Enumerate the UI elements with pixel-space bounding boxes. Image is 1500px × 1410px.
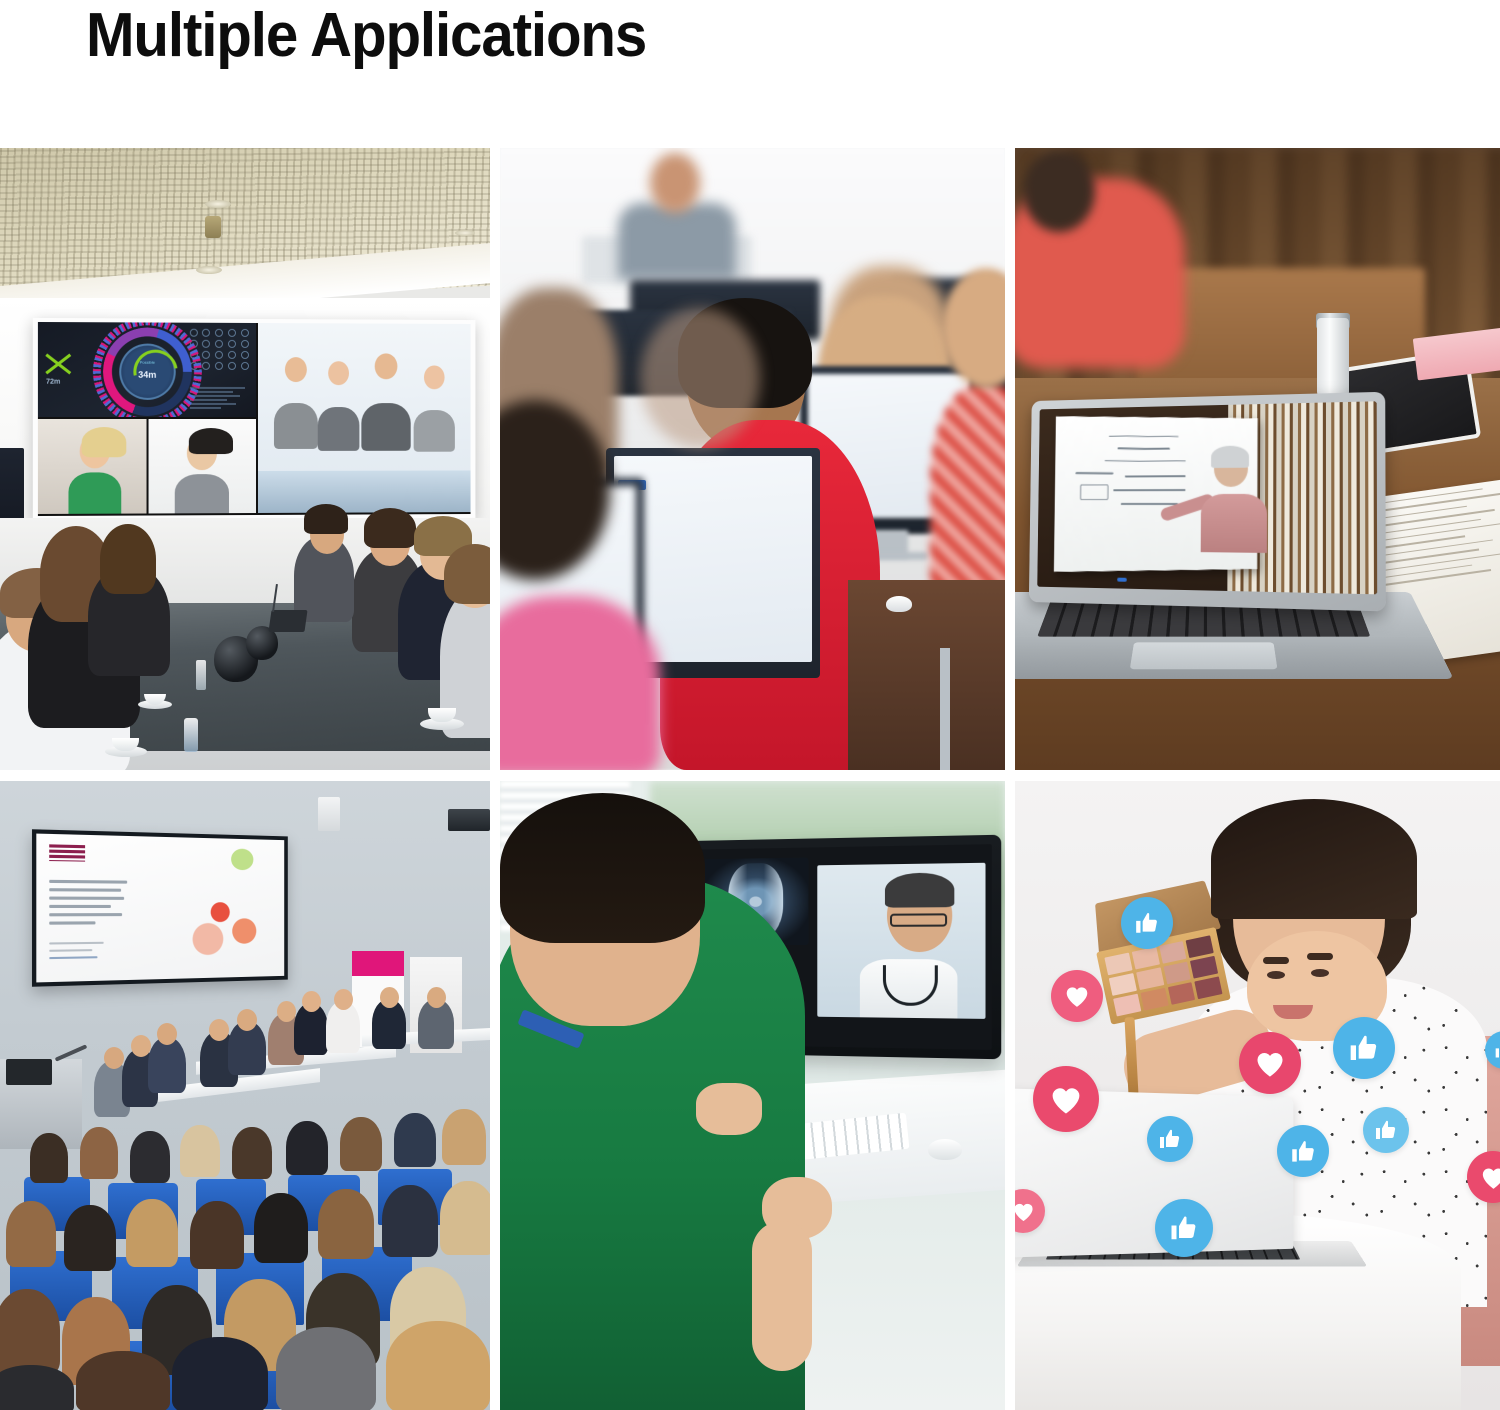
audience-member — [6, 1201, 56, 1267]
projection-screen — [32, 829, 288, 987]
audience-member — [130, 1131, 170, 1183]
reaction-thumbs-up-icon — [1121, 897, 1173, 949]
page-header: Multiple Applications — [0, 0, 1500, 148]
water-glass — [196, 660, 206, 690]
panellist-head — [157, 1023, 177, 1045]
audience-member — [180, 1125, 220, 1177]
dashboard-cross-marker-icon — [43, 348, 74, 378]
ceiling-projector-icon — [205, 216, 221, 238]
influencer-fringe — [1211, 799, 1417, 919]
gallery-tile-lecture-hall-panel[interactable] — [0, 781, 490, 1410]
attendee-hair — [100, 524, 156, 594]
audience-member — [286, 1121, 328, 1175]
doctor-glasses — [890, 913, 947, 926]
page-title: Multiple Applications — [86, 0, 646, 74]
panellist-head — [334, 989, 353, 1010]
audience-member — [0, 1365, 74, 1410]
video-wall-panel-participant — [148, 419, 255, 513]
panellist-head — [237, 1009, 257, 1031]
dashboard-radial-chart: Possible 34m — [103, 327, 192, 416]
background-student-head — [1023, 150, 1095, 232]
attendee-hair — [304, 504, 348, 534]
dashboard-text-lines — [189, 387, 251, 411]
mouse[interactable] — [928, 1139, 962, 1160]
reaction-thumbs-up-icon — [1147, 1116, 1193, 1162]
video-wall-panel-participant — [38, 516, 146, 517]
reaction-heart-icon — [1051, 970, 1103, 1022]
video-wall-panel-dashboard: 72m Possible 34m — [38, 322, 256, 417]
presentation-slide — [36, 834, 284, 983]
influencer-eye — [1267, 971, 1285, 979]
audience-member — [386, 1321, 490, 1410]
lab-desk — [848, 580, 1005, 770]
reaction-thumbs-up-icon — [1277, 1125, 1329, 1177]
panellist-head — [131, 1035, 151, 1057]
panellist-head — [380, 987, 399, 1008]
dashboard-side-value: 72m — [46, 379, 60, 386]
laptop[interactable] — [1020, 396, 1420, 726]
panellist — [148, 1037, 186, 1093]
microphone-base — [268, 610, 307, 632]
audience-member — [442, 1109, 486, 1165]
downlight-icon — [196, 266, 222, 274]
doctor-hair — [885, 873, 954, 908]
ceiling-projector-icon — [448, 809, 490, 831]
video-wall-panel-participant — [38, 419, 146, 514]
reaction-thumbs-up-icon — [1363, 1107, 1409, 1153]
laptop-screen — [1037, 401, 1377, 594]
university-logo — [49, 844, 85, 861]
clinician-forearm — [752, 1221, 812, 1371]
influencer-eye — [1311, 969, 1329, 977]
gallery-tile-boardroom-video-conference[interactable]: 72m Possible 34m — [0, 148, 490, 770]
image-gallery-grid: 72m Possible 34m — [0, 148, 1500, 1410]
audience-member — [254, 1193, 308, 1263]
student — [930, 384, 1005, 604]
audience-member — [76, 1351, 170, 1410]
slide-footer-lines — [49, 942, 110, 965]
influencer-eyebrow — [1263, 957, 1289, 964]
mouse[interactable] — [886, 596, 912, 612]
panellist-head — [104, 1047, 124, 1069]
audience-member — [318, 1189, 374, 1259]
teacher-hair — [1211, 445, 1249, 467]
water-bottle — [184, 718, 198, 752]
attendee-hair — [364, 508, 416, 548]
student-head — [640, 308, 760, 448]
reaction-thumbs-up-icon — [1333, 1017, 1395, 1079]
water-bottle — [1317, 318, 1349, 396]
reaction-thumbs-up-icon — [1155, 1199, 1213, 1257]
clinician-hand — [696, 1083, 762, 1135]
audience-member — [382, 1185, 438, 1257]
influencer-eyebrow — [1307, 953, 1333, 960]
student — [500, 596, 660, 770]
audience-member — [64, 1205, 116, 1271]
instructor-body — [618, 203, 736, 279]
panellist-head — [302, 991, 321, 1012]
gallery-tile-remote-lecture-laptop[interactable] — [1015, 148, 1500, 770]
video-wall-display[interactable]: 72m Possible 34m — [33, 318, 476, 520]
video-wall-panel-group — [257, 323, 470, 513]
audience-member — [440, 1181, 490, 1255]
podium-monitor — [6, 1059, 52, 1085]
doctor-video-feed — [817, 863, 985, 1019]
reaction-heart-icon — [1239, 1032, 1301, 1094]
gallery-tile-beauty-livestream[interactable] — [1015, 781, 1500, 1410]
laptop-trackpad[interactable] — [1130, 642, 1278, 669]
audience-member — [172, 1337, 268, 1410]
downlight-icon — [205, 200, 231, 208]
desk-leg — [940, 648, 950, 770]
instructor-head — [650, 153, 700, 213]
slide-green-circle — [231, 848, 253, 870]
reaction-heart-icon — [1033, 1066, 1099, 1132]
audience-member — [394, 1113, 436, 1167]
teacher-body — [1200, 494, 1266, 553]
gallery-tile-telemedicine-consult[interactable] — [500, 781, 1005, 1410]
audience-member — [340, 1117, 382, 1171]
audience-member — [276, 1327, 376, 1410]
audience-member — [126, 1199, 178, 1267]
laptop-lid — [1029, 392, 1386, 612]
audience-member — [0, 1289, 60, 1375]
audience-member — [80, 1127, 118, 1179]
clinician-hair — [500, 793, 705, 943]
panellist-head — [277, 1001, 296, 1022]
audience-member — [30, 1133, 68, 1183]
moderator-head — [427, 987, 446, 1008]
gallery-tile-computer-lab-classroom[interactable] — [500, 148, 1005, 770]
slide-artwork — [187, 881, 268, 958]
whiteboard-marker — [1117, 577, 1127, 581]
downlight-icon — [455, 230, 475, 236]
panellist-head — [209, 1019, 229, 1041]
audience-member — [190, 1201, 244, 1269]
wall-speaker — [318, 797, 340, 831]
slide-text-lines — [49, 880, 130, 930]
audience-member — [232, 1127, 272, 1179]
